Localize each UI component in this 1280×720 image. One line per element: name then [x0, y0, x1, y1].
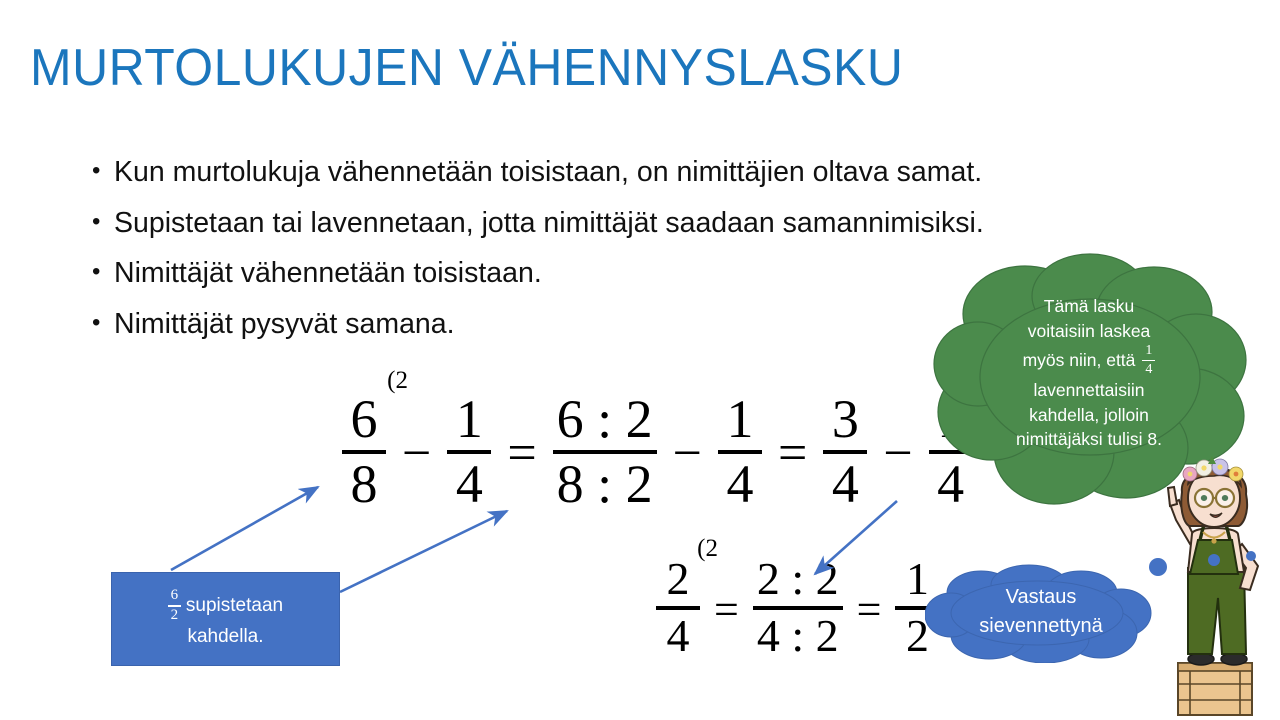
numerator: 1: [723, 392, 758, 447]
cloud-line-2-text: voitaisiin laskea: [1028, 319, 1151, 344]
fraction-six-eighths: (2 6 8: [342, 392, 386, 512]
numerator: 1: [452, 392, 487, 447]
cloud-line-2-text: sievennettynä: [941, 612, 1141, 641]
callout-text: supistetaan: [186, 593, 283, 619]
fraction-three-fourths: 3 4: [823, 392, 867, 512]
fraction-one-fourth: 1 4: [447, 392, 491, 512]
bullet-marker-icon: •: [92, 259, 114, 285]
page-title: MURTOLUKUJEN VÄHENNYSLASKU: [30, 38, 903, 98]
cloud-line-5-text: kahdella, jolloin: [1029, 403, 1149, 428]
fraction-two-div-two-over-four-div-two: 2 : 2 4 : 2: [753, 556, 843, 660]
reduce-annotation: (2: [697, 536, 718, 561]
denominator: 8 : 2: [553, 457, 657, 512]
cloud-line-3-text: myös niin, että: [1023, 348, 1136, 373]
operator-minus: −: [873, 428, 922, 480]
cloud-line-6-text: nimittäjäksi tulisi 8.: [1016, 427, 1162, 452]
fraction-six-halves: 6 2: [168, 588, 181, 624]
denominator: 4: [1145, 363, 1152, 378]
operator-equals: =: [706, 588, 747, 632]
reduce-annotation: (2: [387, 368, 408, 393]
numerator: 3: [828, 392, 863, 447]
numerator: 1: [1145, 344, 1152, 359]
operator-minus: −: [663, 428, 712, 480]
list-item: • Supistetaan tai lavennetaan, jotta nim…: [92, 209, 1212, 238]
bullet-marker-icon: •: [92, 310, 114, 336]
eye-right: [1222, 495, 1228, 501]
denominator: 2: [171, 608, 179, 624]
fraction-one-fourth: 1 4: [1142, 344, 1155, 378]
numerator: 2 : 2: [753, 556, 843, 603]
denominator: 4: [663, 613, 694, 660]
operator-equals: =: [768, 428, 817, 480]
operator-equals: =: [497, 428, 546, 480]
cloud-line-2: voitaisiin laskea: [960, 319, 1218, 344]
denominator: 4: [828, 457, 863, 512]
necklace-pendant-icon: [1211, 538, 1216, 543]
cloud-line-4: lavennettaisiin: [960, 378, 1218, 403]
decorative-dot: [1208, 554, 1220, 566]
bullet-marker-icon: •: [92, 158, 114, 184]
list-item-label: Kun murtolukuja vähennetään toisistaan, …: [114, 158, 982, 187]
cloud-line-5: kahdella, jolloin: [960, 403, 1218, 428]
arrow-box-to-six-eighths: [171, 487, 318, 570]
denominator: 4 : 2: [753, 613, 843, 660]
pointing-finger-icon: [1168, 487, 1177, 506]
slide-canvas: MURTOLUKUJEN VÄHENNYSLASKU • Kun murtolu…: [0, 0, 1280, 720]
arrow-box-to-eight-colon-two: [340, 511, 507, 592]
crown-leaf: [1208, 456, 1216, 464]
cloud-text-blue: Vastaus sievennettynä: [941, 583, 1141, 641]
list-item-label: Nimittäjät vähennetään toisistaan.: [114, 259, 542, 288]
cloud-line-3: myös niin, että 1 4: [960, 344, 1218, 378]
callout-cloud-blue: Vastaus sievennettynä: [925, 563, 1157, 663]
cloud-line-1-text: Vastaus: [941, 583, 1141, 612]
callout-box-supistetaan: 6 2 supistetaan kahdella.: [111, 572, 340, 666]
cloud-line-1: Tämä lasku: [960, 294, 1218, 319]
callout-line-1: 6 2 supistetaan: [168, 588, 283, 624]
eye-left: [1201, 495, 1207, 501]
wooden-crate-icon: [1178, 663, 1252, 715]
callout-line-2: kahdella.: [187, 624, 263, 650]
cartoon-teacher-on-crate: [1146, 448, 1280, 720]
denominator: 4: [723, 457, 758, 512]
cloud-line-1-text: Tämä lasku: [1044, 294, 1134, 319]
fraction-one-fourth: 1 4: [718, 392, 762, 512]
denominator: 8: [347, 457, 382, 512]
decorative-dot: [1246, 551, 1256, 561]
numerator: 6: [171, 588, 179, 604]
list-item-label: Nimittäjät pysyvät samana.: [114, 310, 455, 339]
cloud-text-green: Tämä lasku voitaisiin laskea myös niin, …: [960, 294, 1218, 452]
numerator: 6: [347, 392, 382, 447]
cloud-line-4-text: lavennettaisiin: [1034, 378, 1145, 403]
overalls-legs: [1188, 568, 1246, 654]
numerator: 2: [663, 556, 694, 603]
bullet-marker-icon: •: [92, 209, 114, 235]
fraction-two-fourths: (2 2 4: [656, 556, 700, 660]
numerator: 6 : 2: [553, 392, 657, 447]
list-item: • Kun murtolukuja vähennetään toisistaan…: [92, 158, 1212, 187]
denominator: 4: [452, 457, 487, 512]
simplification-equation: (2 2 4 = 2 : 2 4 : 2 = 1 2: [650, 556, 945, 660]
fraction-six-div-two-over-eight-div-two: 6 : 2 8 : 2: [553, 392, 657, 512]
list-item-label: Supistetaan tai lavennetaan, jotta nimit…: [114, 209, 984, 238]
operator-equals: =: [849, 588, 890, 632]
operator-minus: −: [392, 428, 441, 480]
